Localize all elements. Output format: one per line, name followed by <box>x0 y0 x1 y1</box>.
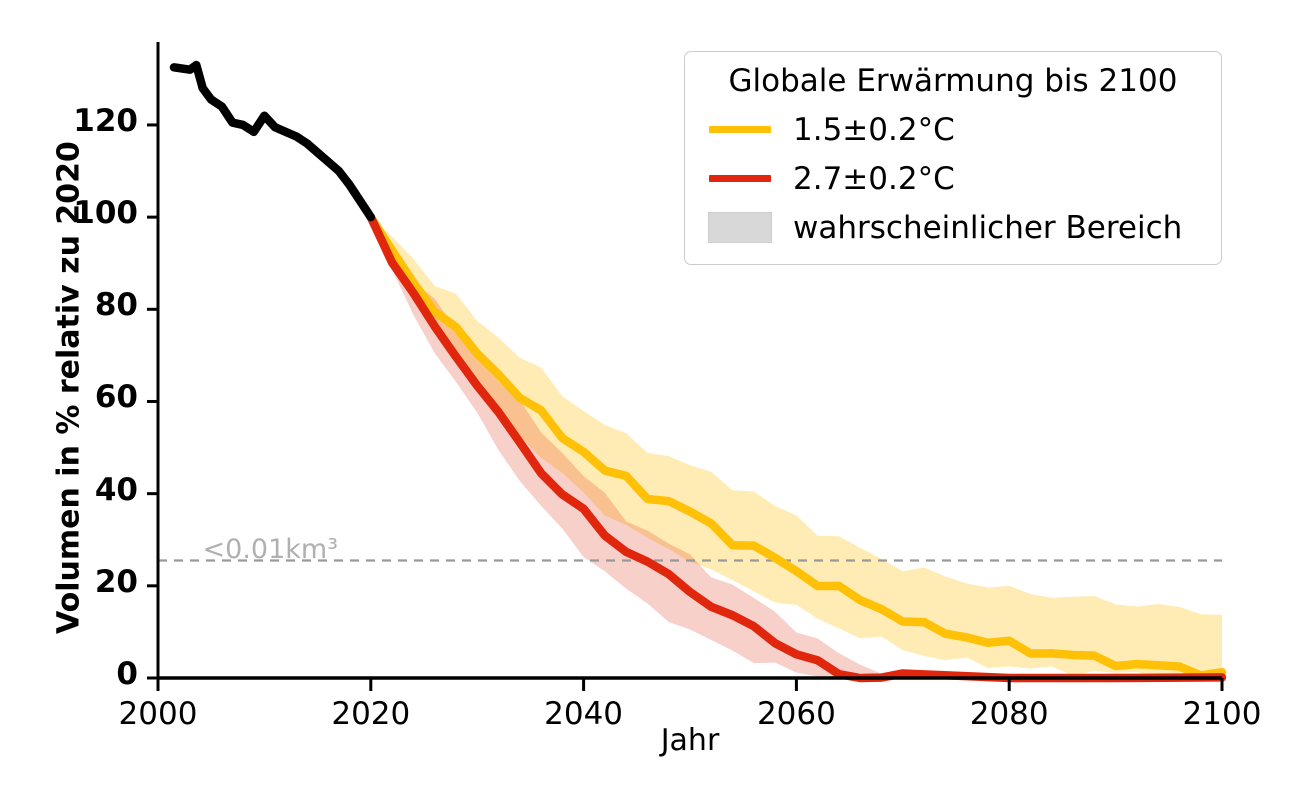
x-tick-label-2020: 2020 <box>291 696 451 732</box>
legend-item-warm27[interactable]: 2.7±0.2°C <box>701 154 1205 203</box>
uncertainty-bands <box>371 217 1222 678</box>
legend-item-range[interactable]: wahrscheinlicher Bereich <box>701 203 1205 252</box>
chart-legend: Globale Erwärmung bis 2100 1.5±0.2°C 2.7… <box>684 51 1222 265</box>
x-tick-label-2060: 2060 <box>716 696 876 732</box>
y-tick-label-80: 80 <box>28 287 138 323</box>
y-tick-label-60: 60 <box>28 379 138 415</box>
x-tick-label-2000: 2000 <box>78 696 238 732</box>
y-tick-label-40: 40 <box>28 472 138 508</box>
legend-line-swatch-icon <box>701 175 779 182</box>
y-tick-label-100: 100 <box>28 195 138 231</box>
legend-line-swatch-icon <box>701 126 779 133</box>
legend-label-range: wahrscheinlicher Bereich <box>779 210 1182 246</box>
legend-title: Globale Erwärmung bis 2100 <box>701 60 1205 105</box>
line-historisch <box>174 65 371 217</box>
x-tick-label-2040: 2040 <box>504 696 664 732</box>
threshold-annotation: <0.01km³ <box>203 534 339 565</box>
x-tick-label-2100: 2100 <box>1142 696 1300 732</box>
legend-label-warm15: 1.5±0.2°C <box>779 112 955 148</box>
legend-label-warm27: 2.7±0.2°C <box>779 161 955 197</box>
legend-patch-swatch-icon <box>701 212 779 243</box>
legend-item-warm15[interactable]: 1.5±0.2°C <box>701 105 1205 154</box>
y-tick-label-20: 20 <box>28 564 138 600</box>
y-tick-label-120: 120 <box>28 103 138 139</box>
y-tick-label-0: 0 <box>28 656 138 692</box>
chart-figure: Volumen in % relativ zu 2020 Jahr <0.01k… <box>0 0 1300 800</box>
x-tick-label-2080: 2080 <box>929 696 1089 732</box>
